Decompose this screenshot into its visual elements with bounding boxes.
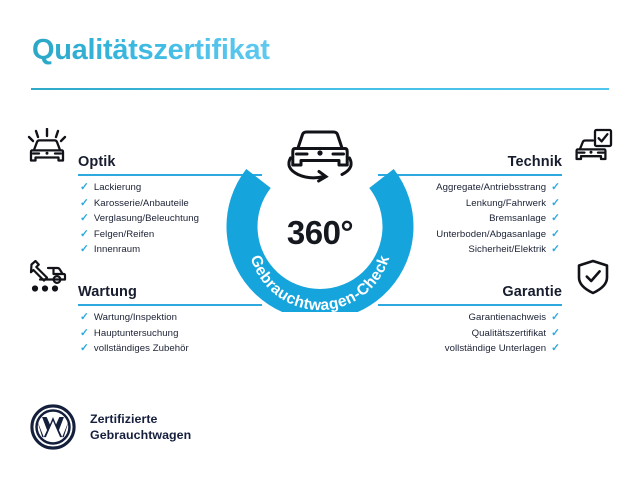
- section-garantie-heading: Garantie: [502, 284, 562, 300]
- list-item-label: Karosserie/Anbauteile: [94, 198, 189, 209]
- check-icon: ✓: [80, 311, 89, 323]
- check-icon: ✓: [80, 243, 89, 255]
- check-icon: ✓: [551, 197, 560, 209]
- shield-check-icon: [570, 256, 616, 298]
- list-item-label: Lenkung/Fahrwerk: [466, 198, 546, 209]
- check-icon: ✓: [551, 228, 560, 240]
- badge-degrees: 360°: [224, 214, 416, 252]
- check-icon: ✓: [551, 181, 560, 193]
- list-item: ✓Verglasung/Beleuchtung: [80, 211, 199, 227]
- check-icon: ✓: [551, 212, 560, 224]
- car-checklist-icon: [570, 126, 616, 168]
- check-icon: ✓: [80, 212, 89, 224]
- list-item: Aggregate/Antriebsstrang✓: [436, 180, 560, 196]
- section-technik-heading: Technik: [508, 154, 562, 170]
- footer-line-1: Zertifizierte: [90, 412, 157, 426]
- badge-360-gebrauchtwagen-check: Gebrauchtwagen-Check 360°: [224, 112, 416, 312]
- check-icon: ✓: [551, 311, 560, 323]
- list-item-label: Hauptuntersuchung: [94, 328, 179, 339]
- section-wartung-list: ✓Wartung/Inspektion ✓Hauptuntersuchung ✓…: [80, 310, 189, 357]
- list-item-label: Sicherheit/Elektrik: [468, 244, 546, 255]
- footer-brand: Zertifizierte Gebrauchtwagen: [30, 404, 191, 450]
- car-shine-icon: [24, 126, 70, 168]
- list-item-label: Wartung/Inspektion: [94, 312, 177, 323]
- page-title: Qualitätszertifikat: [32, 34, 270, 67]
- section-garantie-list: Garantienachweis✓ Qualitätszertifikat✓ v…: [445, 310, 560, 357]
- section-optik-list: ✓Lackierung ✓Karosserie/Anbauteile ✓Verg…: [80, 180, 199, 258]
- list-item: vollständige Unterlagen✓: [445, 341, 560, 357]
- list-item: Lenkung/Fahrwerk✓: [436, 196, 560, 212]
- list-item-label: Aggregate/Antriebsstrang: [436, 182, 546, 193]
- list-item: ✓Karosserie/Anbauteile: [80, 196, 199, 212]
- list-item: Bremsanlage✓: [436, 211, 560, 227]
- section-optik-heading: Optik: [78, 154, 116, 170]
- title-divider: [31, 88, 609, 90]
- list-item: ✓Felgen/Reifen: [80, 227, 199, 243]
- check-icon: ✓: [80, 228, 89, 240]
- list-item: ✓Hauptuntersuchung: [80, 326, 189, 342]
- list-item: ✓Wartung/Inspektion: [80, 310, 189, 326]
- check-icon: ✓: [80, 327, 89, 339]
- check-icon: ✓: [80, 342, 89, 354]
- list-item-label: vollständiges Zubehör: [94, 343, 189, 354]
- footer-brand-text: Zertifizierte Gebrauchtwagen: [90, 411, 191, 443]
- list-item-label: vollständige Unterlagen: [445, 343, 546, 354]
- section-wartung-heading: Wartung: [78, 284, 137, 300]
- car-wrench-service-icon: [24, 256, 70, 298]
- section-technik-list: Aggregate/Antriebsstrang✓ Lenkung/Fahrwe…: [436, 180, 560, 258]
- check-icon: ✓: [80, 197, 89, 209]
- list-item-label: Felgen/Reifen: [94, 229, 154, 240]
- footer-line-2: Gebrauchtwagen: [90, 428, 191, 442]
- check-icon: ✓: [80, 181, 89, 193]
- list-item: Garantienachweis✓: [445, 310, 560, 326]
- list-item-label: Innenraum: [94, 244, 140, 255]
- list-item: Qualitätszertifikat✓: [445, 326, 560, 342]
- list-item-label: Verglasung/Beleuchtung: [94, 213, 199, 224]
- check-icon: ✓: [551, 243, 560, 255]
- list-item-label: Lackierung: [94, 182, 141, 193]
- list-item: ✓Lackierung: [80, 180, 199, 196]
- check-icon: ✓: [551, 342, 560, 354]
- list-item-label: Bremsanlage: [489, 213, 546, 224]
- list-item: Unterboden/Abgasanlage✓: [436, 227, 560, 243]
- certificate-page: Qualitätszertifikat: [0, 0, 640, 480]
- list-item: ✓vollständiges Zubehör: [80, 341, 189, 357]
- list-item-label: Garantienachweis: [469, 312, 547, 323]
- list-item-label: Qualitätszertifikat: [472, 328, 547, 339]
- list-item-label: Unterboden/Abgasanlage: [436, 229, 546, 240]
- vw-logo-icon: [30, 404, 76, 450]
- check-icon: ✓: [551, 327, 560, 339]
